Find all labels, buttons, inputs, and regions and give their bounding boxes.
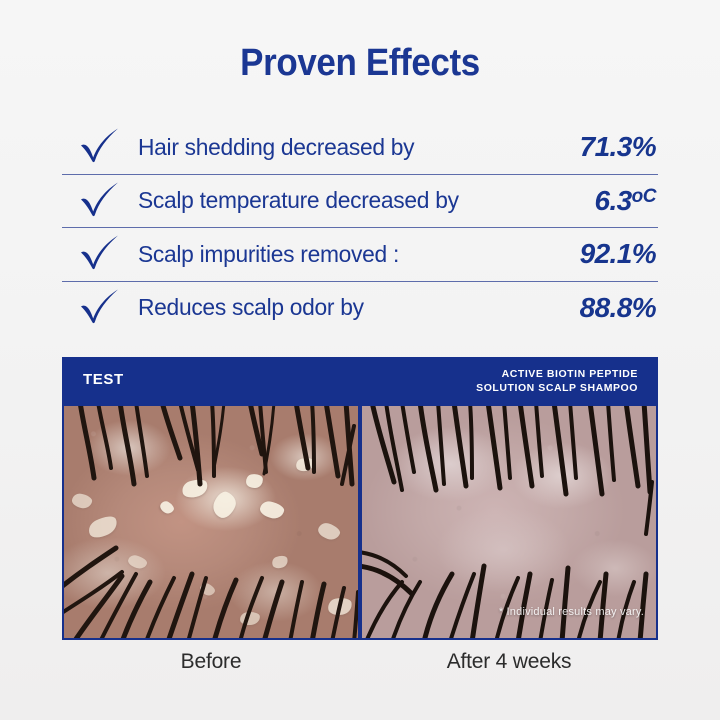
claim-row: Reduces scalp odor by 88.8% [62, 282, 658, 335]
page-title: Proven Effects [29, 42, 691, 85]
claim-value: 6.3oC [595, 185, 659, 217]
checkmark-icon [62, 126, 138, 168]
claim-value-number: 71.3% [580, 131, 656, 162]
product-name-line1: ACTIVE BIOTIN PEPTIDE [476, 368, 638, 382]
comparison-panel: TEST ACTIVE BIOTIN PEPTIDE SOLUTION SCAL… [62, 357, 658, 640]
claim-row: Hair shedding decreased by 71.3% [62, 121, 658, 175]
proven-effects-infographic: Proven Effects Hair shedding decreased b… [0, 0, 720, 720]
claim-label: Hair shedding decreased by [138, 134, 566, 161]
after-photo: * Individual results may vary. [362, 406, 656, 638]
claim-value-unit: oC [632, 186, 656, 207]
claim-value-number: 88.8% [580, 292, 656, 323]
product-name: ACTIVE BIOTIN PEPTIDE SOLUTION SCALP SHA… [476, 368, 638, 395]
before-photo [64, 406, 358, 638]
claim-value-number: 92.1% [580, 238, 656, 269]
claim-label: Scalp temperature decreased by [138, 187, 581, 214]
photo-captions: Before After 4 weeks [62, 650, 658, 674]
claim-value: 88.8% [580, 292, 658, 324]
claim-value: 92.1% [580, 238, 658, 270]
caption-before: Before [62, 650, 360, 674]
claims-list: Hair shedding decreased by 71.3% Scalp t… [62, 121, 658, 334]
hair-strands [64, 406, 358, 638]
claim-value: 71.3% [580, 131, 658, 163]
claim-row: Scalp temperature decreased by 6.3oC [62, 175, 658, 229]
photo-pair: * Individual results may vary. [64, 406, 656, 638]
claim-row: Scalp impurities removed : 92.1% [62, 228, 658, 282]
test-label: TEST [83, 371, 124, 388]
product-name-line2: SOLUTION SCALP SHAMPOO [476, 382, 638, 396]
claim-value-number: 6.3 [595, 185, 632, 216]
checkmark-icon [62, 287, 138, 329]
claim-label: Reduces scalp odor by [138, 294, 566, 321]
results-disclaimer: * Individual results may vary. [499, 606, 644, 618]
checkmark-icon [62, 180, 138, 222]
checkmark-icon [62, 233, 138, 275]
panel-header: TEST ACTIVE BIOTIN PEPTIDE SOLUTION SCAL… [64, 359, 656, 406]
caption-after: After 4 weeks [360, 650, 658, 674]
claim-label: Scalp impurities removed : [138, 241, 566, 268]
hair-strands [362, 406, 656, 638]
